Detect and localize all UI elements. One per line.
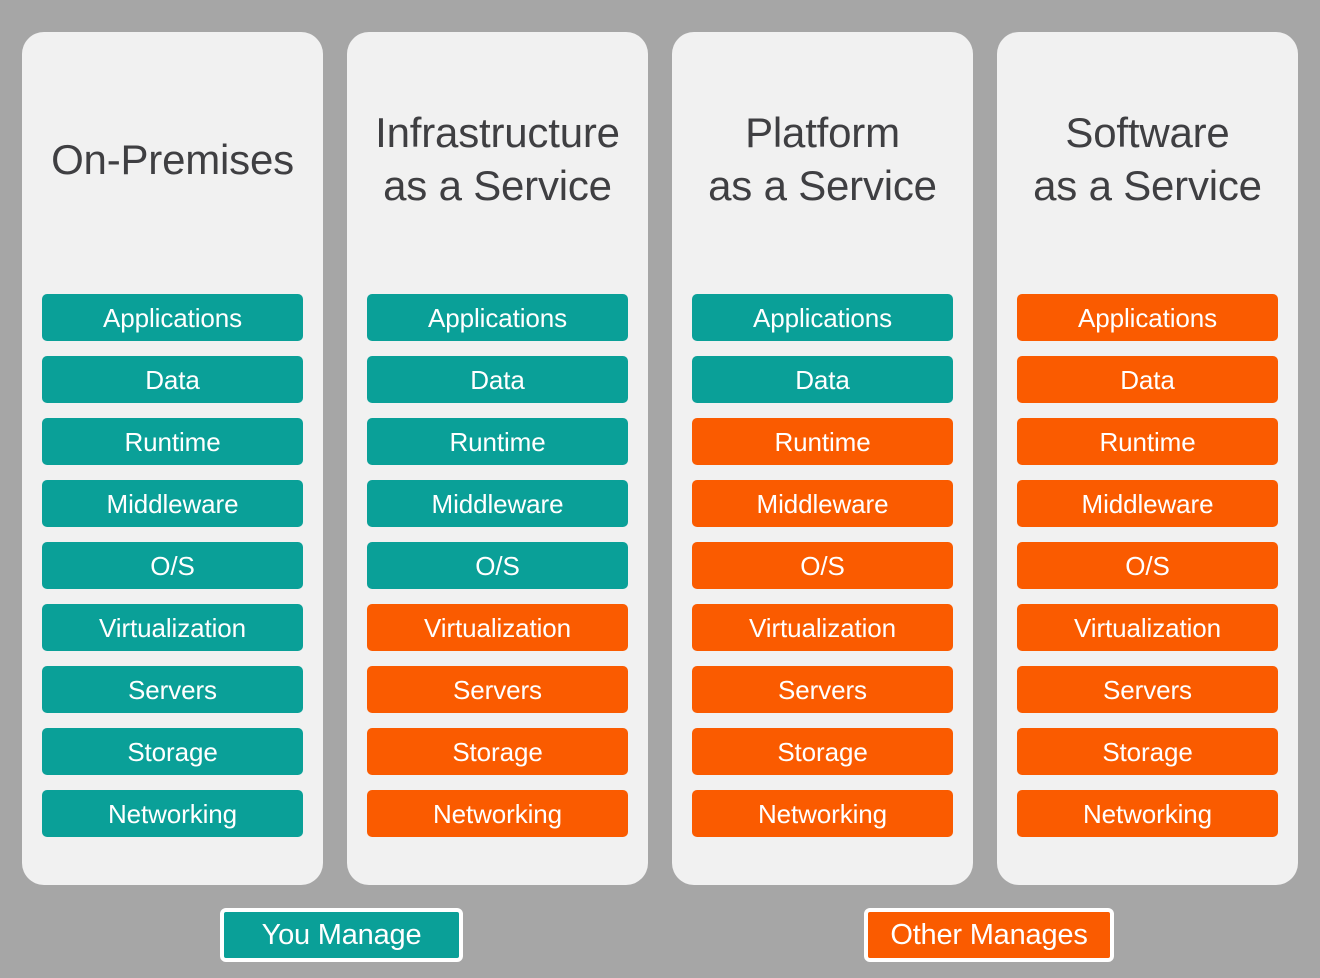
layer-stack: ApplicationsDataRuntimeMiddlewareO/SVirt…: [692, 294, 953, 837]
card-title-line-2: as a Service: [708, 160, 937, 213]
layer-row: Applications: [42, 294, 303, 341]
card-title: Platformas a Service: [692, 32, 953, 294]
layer-row: Applications: [1017, 294, 1278, 341]
layer-row: Virtualization: [1017, 604, 1278, 651]
layer-row: Runtime: [1017, 418, 1278, 465]
layer-stack: ApplicationsDataRuntimeMiddlewareO/SVirt…: [1017, 294, 1278, 837]
layer-row: Data: [692, 356, 953, 403]
card-title: Infrastructureas a Service: [367, 32, 628, 294]
layer-row: Runtime: [367, 418, 628, 465]
layer-row: Middleware: [42, 480, 303, 527]
card-title: On-Premises: [42, 32, 303, 294]
layer-row: O/S: [42, 542, 303, 589]
layer-row: Networking: [42, 790, 303, 837]
layer-stack: ApplicationsDataRuntimeMiddlewareO/SVirt…: [367, 294, 628, 837]
card-title-line-2: as a Service: [383, 160, 612, 213]
layer-row: Servers: [42, 666, 303, 713]
legend: You Manage Other Manages: [0, 908, 1320, 970]
card-title-line-1: Platform: [745, 107, 900, 160]
layer-row: O/S: [367, 542, 628, 589]
layer-row: Data: [42, 356, 303, 403]
layer-row: Data: [1017, 356, 1278, 403]
layer-row: Middleware: [367, 480, 628, 527]
layer-row: Runtime: [692, 418, 953, 465]
layer-row: O/S: [1017, 542, 1278, 589]
layer-row: Virtualization: [367, 604, 628, 651]
layer-row: Servers: [1017, 666, 1278, 713]
service-model-card: Platformas a ServiceApplicationsDataRunt…: [672, 32, 973, 885]
layer-row: Networking: [1017, 790, 1278, 837]
layer-row: Applications: [692, 294, 953, 341]
card-title-line-1: Infrastructure: [375, 107, 620, 160]
layer-row: Storage: [1017, 728, 1278, 775]
layer-row: Middleware: [692, 480, 953, 527]
layer-row: Storage: [367, 728, 628, 775]
layer-row: Servers: [367, 666, 628, 713]
layer-row: Runtime: [42, 418, 303, 465]
card-title-line-2: as a Service: [1033, 160, 1262, 213]
card-title-line-1: On-Premises: [51, 134, 294, 187]
layer-row: Servers: [692, 666, 953, 713]
service-model-card: Infrastructureas a ServiceApplicationsDa…: [347, 32, 648, 885]
layer-row: Virtualization: [692, 604, 953, 651]
layer-stack: ApplicationsDataRuntimeMiddlewareO/SVirt…: [42, 294, 303, 837]
layer-row: Networking: [367, 790, 628, 837]
service-model-columns: On-PremisesApplicationsDataRuntimeMiddle…: [0, 0, 1320, 890]
layer-row: Applications: [367, 294, 628, 341]
service-model-card: On-PremisesApplicationsDataRuntimeMiddle…: [22, 32, 323, 885]
layer-row: Storage: [42, 728, 303, 775]
card-title-line-1: Software: [1065, 107, 1229, 160]
layer-row: Data: [367, 356, 628, 403]
card-title: Softwareas a Service: [1017, 32, 1278, 294]
layer-row: Networking: [692, 790, 953, 837]
layer-row: O/S: [692, 542, 953, 589]
layer-row: Virtualization: [42, 604, 303, 651]
legend-chip-other-manages: Other Manages: [864, 908, 1114, 962]
saas-paas-iaas-responsibility-diagram: On-PremisesApplicationsDataRuntimeMiddle…: [0, 0, 1320, 978]
legend-chip-you-manage: You Manage: [220, 908, 463, 962]
service-model-card: Softwareas a ServiceApplicationsDataRunt…: [997, 32, 1298, 885]
layer-row: Middleware: [1017, 480, 1278, 527]
layer-row: Storage: [692, 728, 953, 775]
